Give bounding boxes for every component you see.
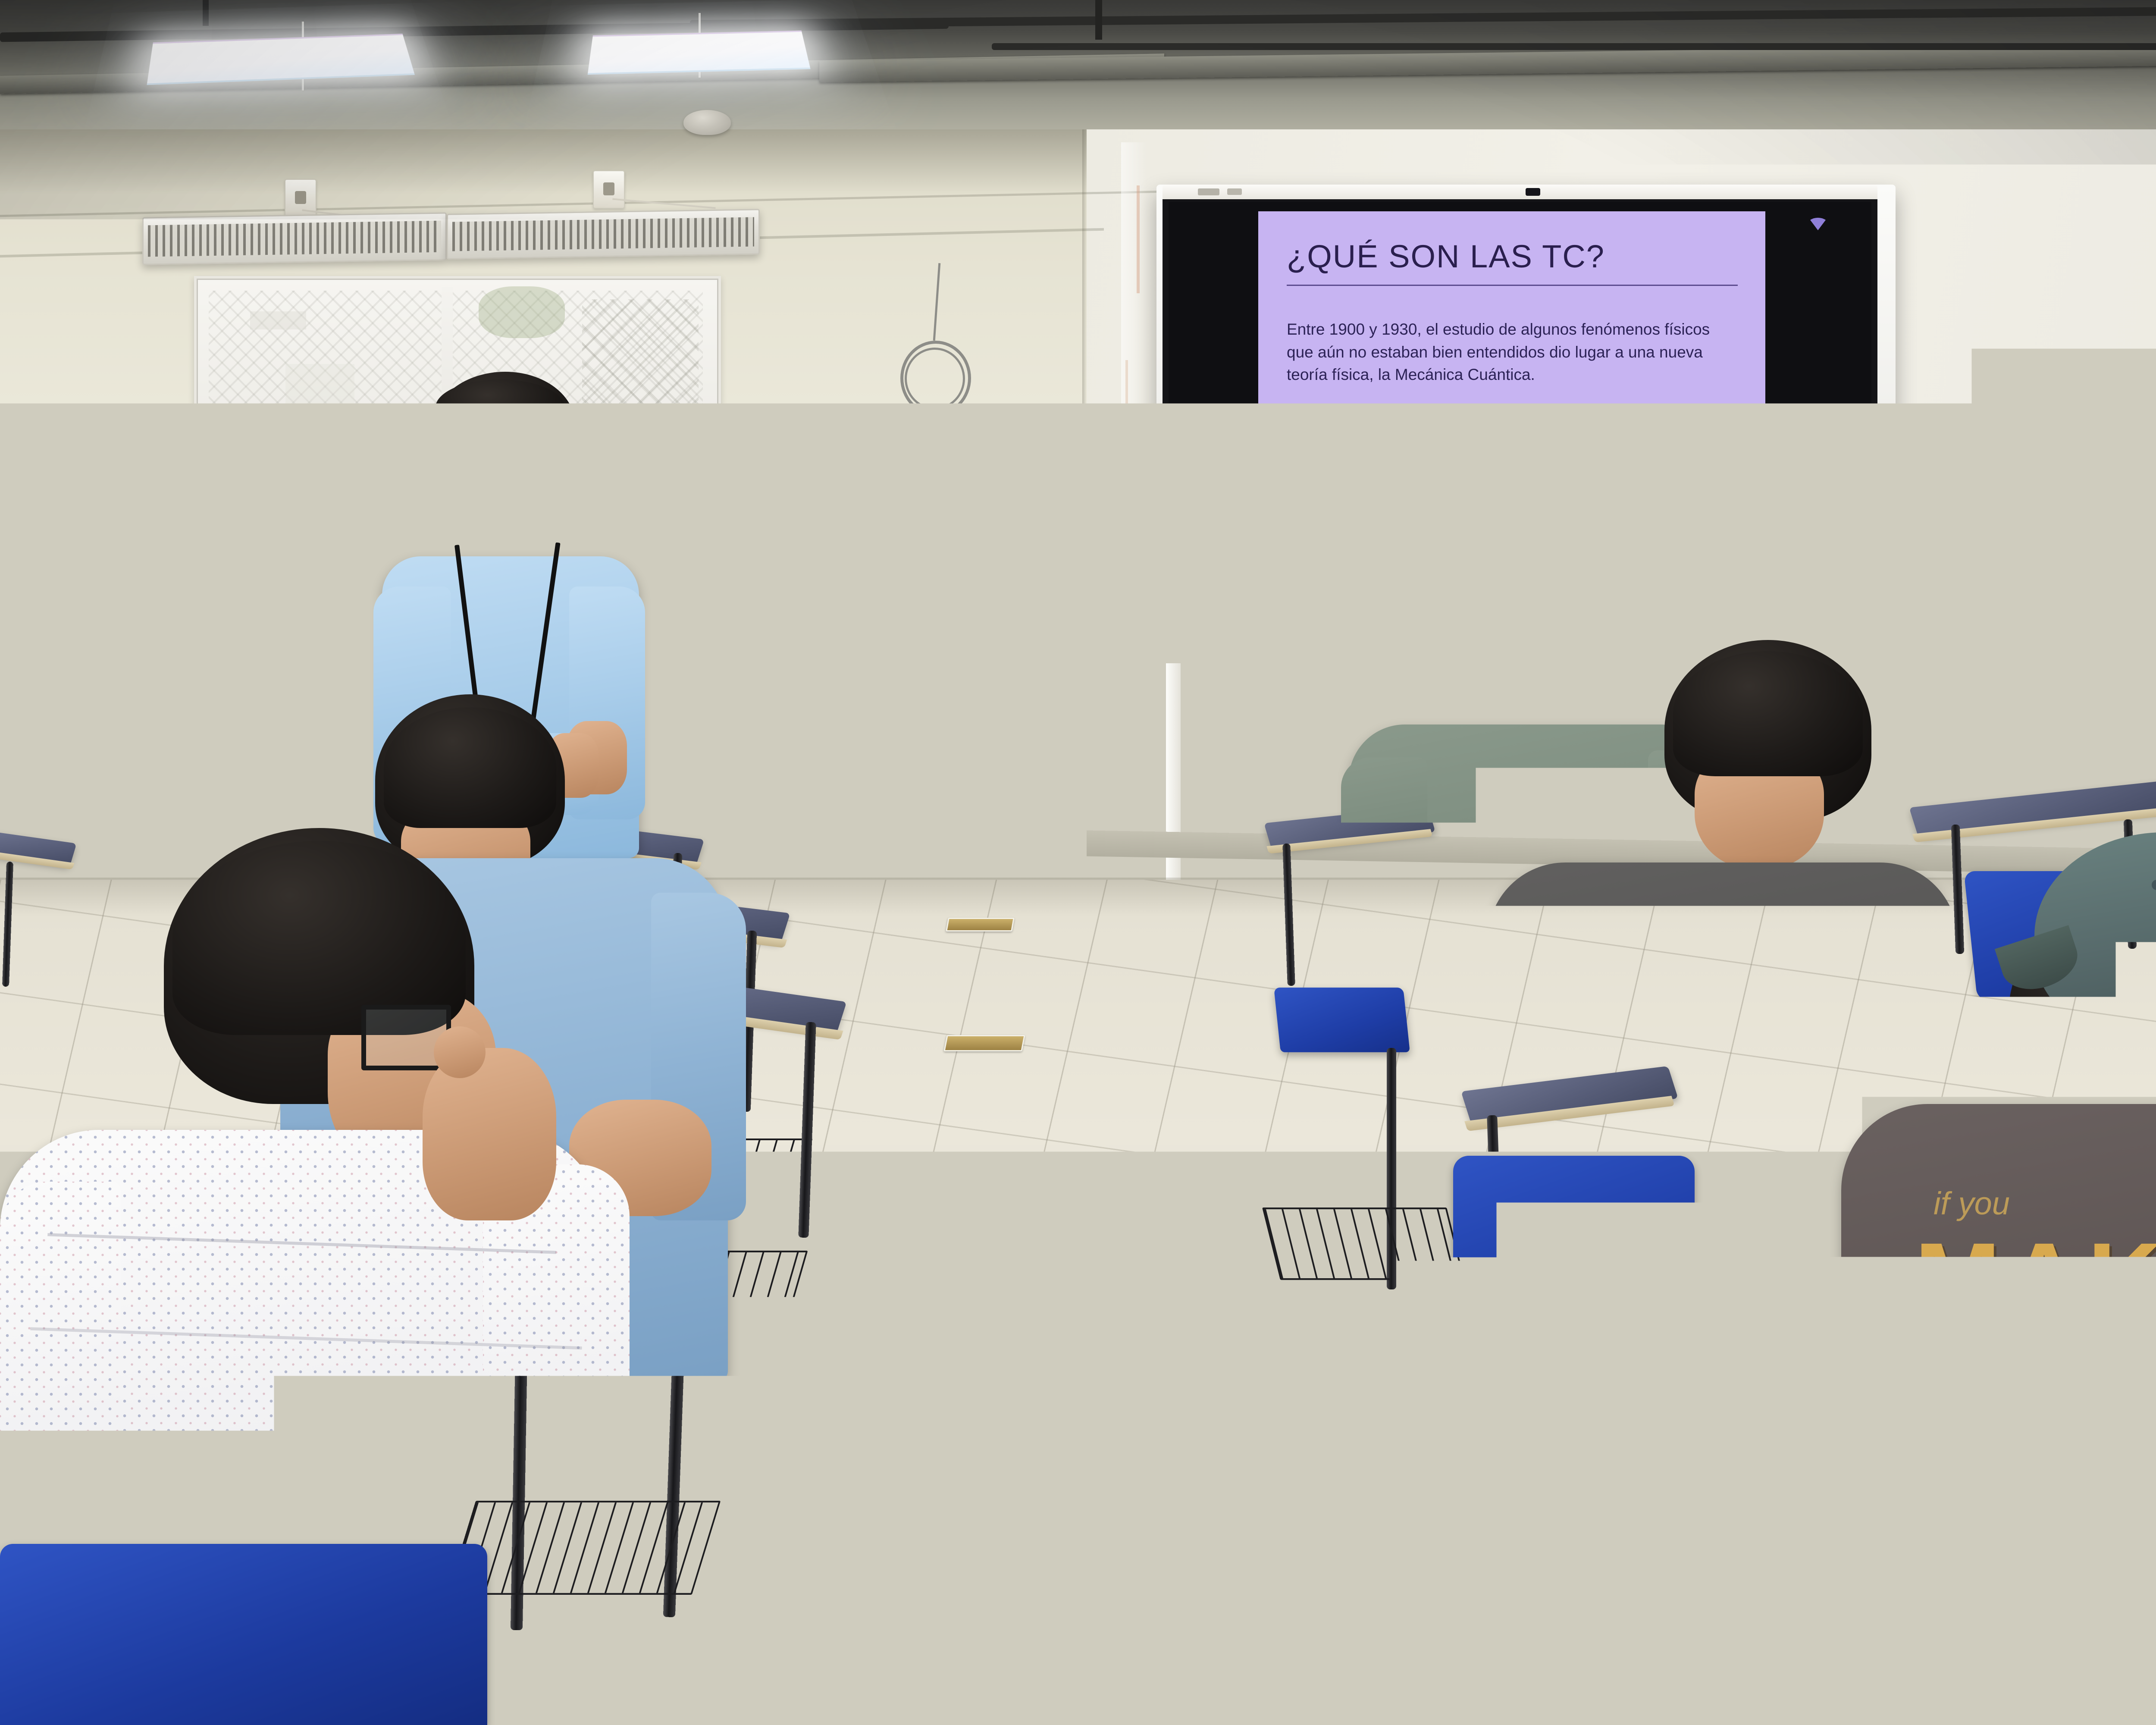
extinguisher-hose [1046, 508, 1104, 549]
fire-extinguisher-head [1076, 478, 1108, 499]
foliage-reflection [479, 286, 565, 338]
floor-power-outlet[interactable] [917, 1306, 1016, 1327]
classroom-photo: ¿QUÉ SON LAS TC? Entre 1900 y 1930, el e… [0, 0, 2156, 1725]
slide-title-rule [1287, 285, 1738, 286]
ac-vent-grille [142, 212, 447, 265]
wifi-icon [1806, 215, 1830, 232]
cabinet-door-right[interactable] [749, 576, 901, 778]
silhouette [317, 437, 355, 515]
desk-basket [1262, 1207, 1465, 1280]
cap-eyelet [2152, 880, 2156, 890]
seal-text [1667, 570, 1690, 574]
tshirt-graphic-big: MAKE [1915, 1220, 2156, 1339]
backpack-handle [1146, 1564, 1250, 1592]
tshirt-graphic-bottom: SHINE [1915, 1557, 2156, 1671]
instructor-glasses-right [514, 438, 561, 468]
display-top-bezel [1163, 185, 1877, 199]
presentation-slide: ¿QUÉ SON LAS TC? Entre 1900 y 1930, el e… [1258, 211, 1765, 612]
student2-hair-top [384, 707, 556, 828]
instructor-hair-top [436, 379, 565, 436]
floor-power-outlet[interactable] [946, 918, 1015, 931]
outlet-socket [603, 182, 614, 195]
water-bottle[interactable] [1420, 1689, 1461, 1725]
silhouette [265, 416, 312, 506]
glasses-bridge [507, 448, 516, 451]
slide-paragraph-2: Esta teoría describe y explica el funcio… [1287, 415, 1739, 483]
table-edge [252, 584, 342, 590]
instructor-glasses-left [466, 440, 511, 470]
shoe [1605, 1591, 1754, 1695]
student3-shoulder-left [1341, 757, 1427, 973]
instructor-mouth [511, 496, 544, 513]
student1-shoulder-left [0, 1182, 121, 1725]
student5-torso: if you MAKE SHINE [1841, 1104, 2156, 1725]
cable-coil-inner [905, 348, 965, 410]
extinguisher-nozzle [1094, 561, 1119, 703]
ac-vent-grille [447, 209, 760, 259]
student1-hand [423, 1048, 556, 1220]
extinguisher-handle [1088, 471, 1109, 481]
wall-corner-highlight [1121, 142, 1147, 867]
slide-page-number: 8 / 46 [1664, 585, 1702, 600]
ceiling-bracket [203, 0, 209, 26]
outlet-socket [295, 191, 306, 204]
backpack-strap [1310, 1518, 1407, 1553]
display-camera [1526, 188, 1540, 196]
student5-ear [2034, 1014, 2111, 1105]
table-leg [330, 590, 335, 706]
display-sensor [1198, 188, 1219, 195]
ceiling-conduit [992, 43, 2156, 50]
smoke-detector-icon [683, 110, 731, 135]
wooden-cabinet[interactable] [600, 554, 906, 809]
cabinet-caster [853, 801, 868, 812]
wall-outlet[interactable] [593, 170, 625, 209]
glass-reflection [250, 311, 306, 329]
student4-shoulder-left [1466, 923, 1570, 1294]
floor-power-outlet[interactable] [938, 1251, 1029, 1270]
ceiling-bracket [1095, 0, 1102, 40]
trash-bin-pedal[interactable] [987, 795, 1020, 816]
backpack-strap [1172, 1434, 1264, 1465]
table-leg [260, 590, 266, 706]
display-screen[interactable]: ¿QUÉ SON LAS TC? Entre 1900 y 1930, el e… [1169, 202, 1871, 616]
floor-power-outlet[interactable] [943, 1035, 1025, 1051]
slide-logo [1658, 554, 1700, 580]
ir-sensor-strip [1242, 638, 1310, 651]
student4-hair-top [1673, 651, 1863, 776]
interactive-display[interactable]: ¿QUÉ SON LAS TC? Entre 1900 y 1930, el e… [1156, 185, 1896, 640]
slide-paragraph-1: Entre 1900 y 1930, el estudio de algunos… [1287, 318, 1739, 386]
security-grille [582, 299, 699, 528]
tshirt-graphic-small: if you [1934, 1185, 2010, 1222]
cabinet-handle[interactable] [871, 666, 882, 696]
tshirt-still-neck [2008, 1337, 2094, 1393]
wall-trim-mark [1125, 360, 1128, 451]
student1-finger [434, 1026, 486, 1078]
display-sensor [1227, 188, 1242, 195]
student3-hair-top [1444, 594, 1599, 693]
backpack[interactable] [1229, 1458, 1505, 1725]
ir-sensor-strip [1180, 638, 1244, 651]
seal-emblem-icon [1674, 558, 1683, 567]
wall-trim-mark [1137, 185, 1140, 293]
backpack-logo-badge [1265, 1555, 1292, 1576]
slide-title: ¿QUÉ SON LAS TC? [1287, 238, 1605, 275]
ceiling-light-panel [588, 31, 811, 75]
